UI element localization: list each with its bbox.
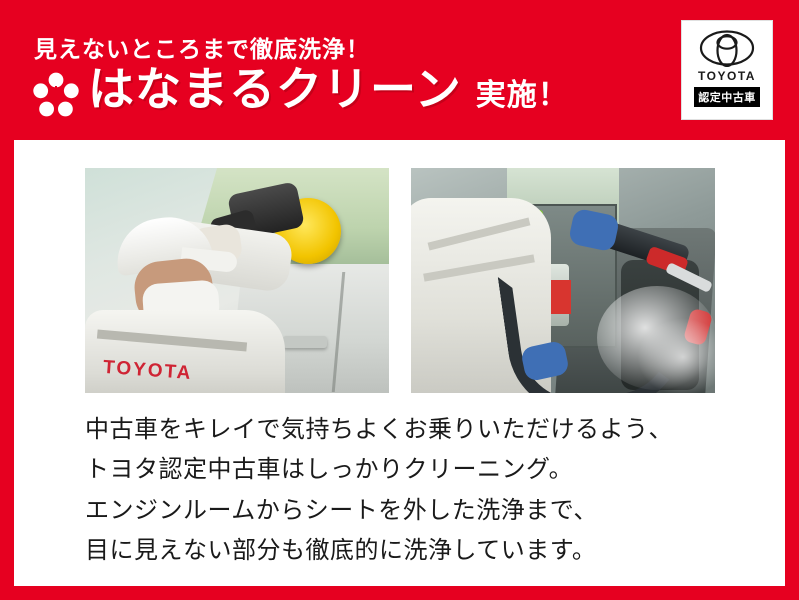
photo-row: TOYOTA (85, 168, 715, 393)
brand-subtitle: 実施！ (476, 81, 569, 111)
body-line-4: 目に見えない部分も徹底的に洗浄しています。 (85, 533, 725, 569)
photo-polishing: TOYOTA (85, 168, 389, 393)
flower-icon (33, 72, 79, 118)
body-line-2: トヨタ認定中古車はしっかりクリーニング。 (85, 452, 725, 488)
photo-steam-cleaning (411, 168, 715, 393)
brand-line: はなまるクリーン 実施！ (88, 66, 569, 112)
toyota-certified-logo: TOYOTA 認定中古車 (681, 20, 773, 120)
promo-page: 見えないところまで徹底洗浄！ はなまるクリーン (0, 0, 799, 600)
body-line-1: 中古車をキレイで気持ちよくお乗りいただけるよう、 (85, 412, 725, 448)
body-copy: 中古車をキレイで気持ちよくお乗りいただけるよう、 トヨタ認定中古車はしっかりクリ… (85, 412, 725, 574)
photo1-door-handle (283, 336, 327, 348)
header-tagline: 見えないところまで徹底洗浄！ (34, 30, 370, 64)
brand-title: はなまるクリーン (88, 66, 462, 112)
photo2-steam-cloud-secondary (637, 318, 715, 393)
body-line-3: エンジンルームからシートを外した洗浄まで、 (85, 493, 725, 529)
toyota-wordmark: TOYOTA (698, 69, 756, 83)
certified-used-car-badge: 認定中古車 (694, 87, 760, 107)
header-banner: 見えないところまで徹底洗浄！ はなまるクリーン (0, 0, 799, 140)
toyota-emblem-icon (699, 29, 755, 67)
